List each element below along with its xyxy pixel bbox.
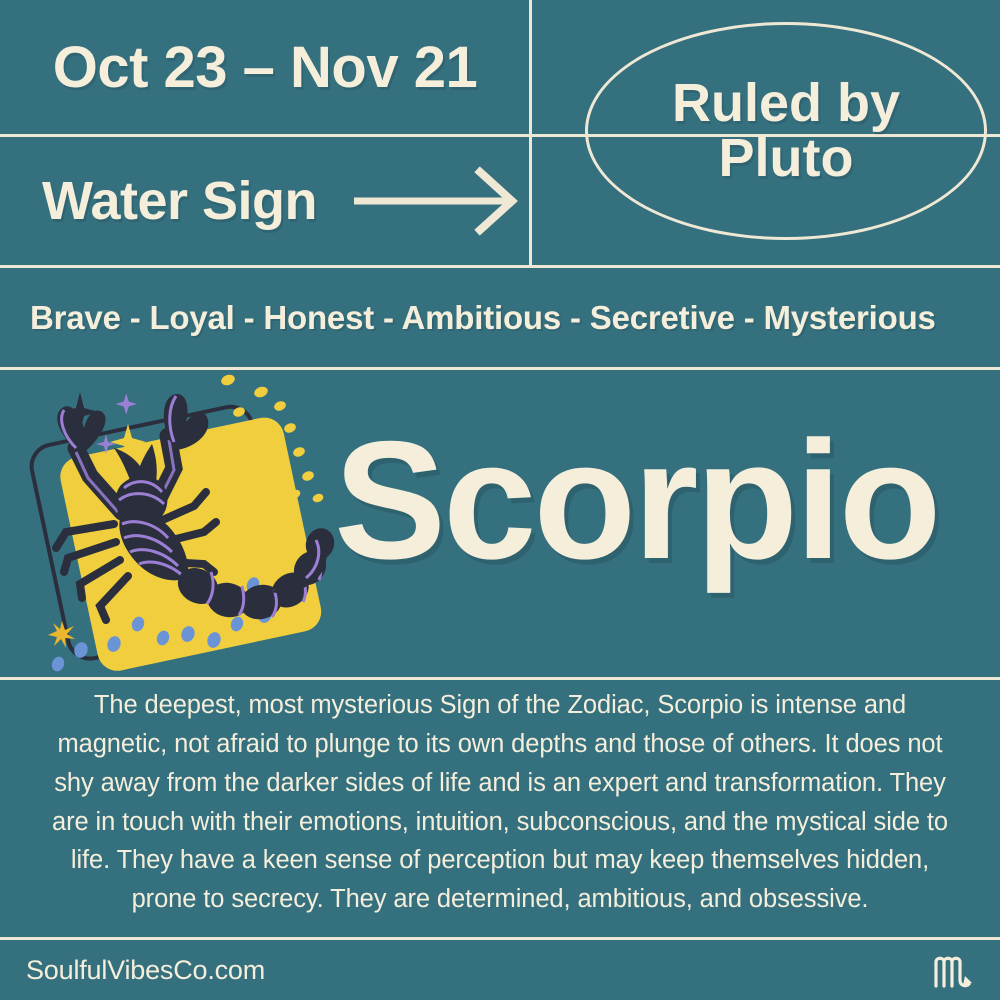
right-arrow-icon	[352, 166, 524, 236]
traits-label: Brave - Loyal - Honest - Ambitious - Sec…	[30, 299, 936, 337]
date-range-cell: Oct 23 – Nov 21	[0, 0, 530, 134]
ruling-planet-line-1: Ruled by	[672, 76, 900, 131]
ruling-planet-label: Ruled by Pluto	[654, 76, 918, 186]
scorpion-illustration	[18, 372, 358, 672]
element-label: Water Sign	[42, 170, 317, 232]
description-section: The deepest, most mysterious Sign of the…	[0, 680, 1000, 925]
sign-name-title: Scorpio	[334, 416, 938, 584]
scorpio-glyph	[930, 946, 978, 994]
element-cell: Water Sign	[0, 137, 530, 265]
ruling-planet-line-2: Pluto	[672, 131, 900, 186]
hero-section: Scorpio	[0, 370, 1000, 674]
traits-band: Brave - Loyal - Honest - Ambitious - Sec…	[0, 268, 1000, 367]
ruling-planet-badge: Ruled by Pluto	[585, 22, 987, 240]
footer: SoulfulVibesCo.com	[0, 940, 1000, 1000]
description-text: The deepest, most mysterious Sign of the…	[48, 686, 953, 919]
scorpio-zodiac-card: Oct 23 – Nov 21 Water Sign Ruled by Plut…	[0, 0, 1000, 1000]
date-range-label: Oct 23 – Nov 21	[53, 34, 478, 101]
site-url-label[interactable]: SoulfulVibesCo.com	[26, 955, 265, 986]
